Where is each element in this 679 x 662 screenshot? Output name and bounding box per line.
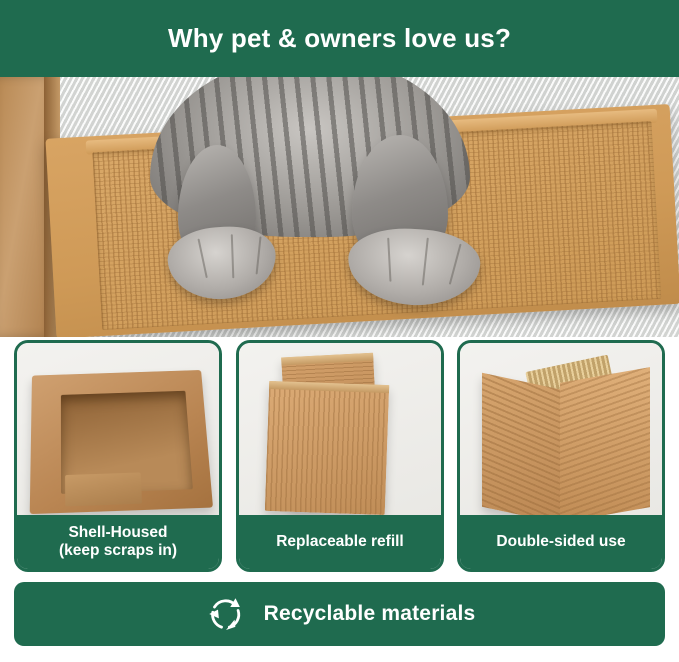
toe-separator: [256, 236, 262, 274]
shell-outer-box: [30, 370, 213, 514]
double-sided-use-caption: Double-sided use: [460, 515, 662, 569]
panel-face-b: [560, 367, 650, 521]
feature-card-shell-housed[interactable]: Shell-Housed (keep scraps in): [14, 340, 222, 572]
shell-flap: [65, 472, 142, 506]
product-infographic: Why pet & owners love us? Recyclable Pap…: [0, 0, 679, 662]
toe-separator: [387, 238, 391, 282]
feature-card-row: Shell-Housed (keep scraps in) Replaceabl…: [0, 340, 679, 572]
feature-card-replaceable-refill[interactable]: Replaceable refill: [236, 340, 444, 572]
double-sided-use-image: [460, 343, 662, 521]
shell-housed-caption-line2: (keep scraps in): [59, 542, 177, 559]
shell-housed-caption: Shell-Housed (keep scraps in): [17, 515, 219, 569]
recyclable-materials-label: Recyclable materials: [264, 602, 476, 626]
hero-image: Recyclable Paper: [0, 77, 679, 337]
double-sided-panel: [476, 357, 652, 517]
replaceable-refill-caption: Replaceable refill: [239, 515, 441, 569]
refill-edge: [281, 353, 373, 366]
shell-housed-image: [17, 343, 219, 521]
shell-housed-caption-line1: Shell-Housed: [68, 524, 167, 541]
refill-panel-front: [265, 381, 389, 515]
replaceable-refill-caption-line1: Replaceable refill: [276, 533, 404, 551]
double-sided-use-caption-line1: Double-sided use: [496, 533, 625, 551]
toe-separator: [449, 244, 462, 285]
toe-separator: [422, 238, 429, 286]
toe-separator: [197, 239, 207, 279]
page-title: Why pet & owners love us?: [168, 23, 511, 54]
replaceable-refill-image: [239, 343, 441, 521]
header-banner: Why pet & owners love us?: [0, 0, 679, 77]
toe-separator: [231, 234, 235, 278]
recycle-icon: [204, 593, 246, 635]
feature-card-double-sided-use[interactable]: Double-sided use: [457, 340, 665, 572]
recyclable-materials-bar: Recyclable materials: [14, 582, 665, 646]
